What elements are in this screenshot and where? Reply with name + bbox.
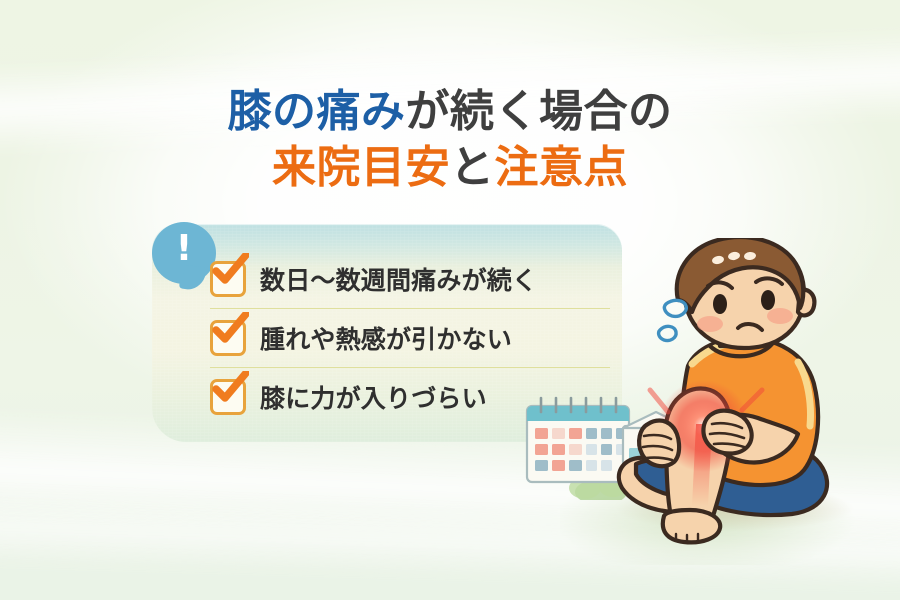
title-segment-gray-1: が続く場合の: [406, 86, 673, 137]
list-item[interactable]: 数日〜数週間痛みが続く: [210, 250, 610, 308]
checkbox-checked-icon[interactable]: [210, 379, 246, 415]
title-segment-orange-2: 注意点: [495, 142, 629, 193]
title-segment-gray-2: と: [450, 142, 495, 193]
title-segment-orange-1: 来院目安: [272, 142, 450, 193]
check-mark-icon: [211, 371, 249, 405]
list-item-label: 腫れや熱感が引かない: [260, 320, 512, 356]
list-item-label: 数日〜数週間痛みが続く: [260, 261, 537, 297]
title-segment-blue: 膝の痛み: [228, 86, 406, 137]
boy-foot: [663, 510, 720, 542]
title-line-2: 来院目安と注意点: [0, 142, 900, 194]
title-line-1: 膝の痛みが続く場合の: [0, 86, 900, 138]
list-item[interactable]: 腫れや熱感が引かない: [210, 308, 610, 367]
check-mark-icon: [211, 312, 249, 346]
boy-holding-knee-illustration: [592, 238, 892, 548]
poster-canvas: 膝の痛みが続く場合の 来院目安と注意点 ! 数日〜数週間痛みが続く: [0, 0, 900, 600]
check-mark-icon: [211, 253, 249, 287]
exclamation-icon: !: [152, 222, 216, 284]
exclamation-mark: !: [152, 231, 216, 267]
list-item-label: 膝に力が入りづらい: [260, 379, 487, 415]
page-title: 膝の痛みが続く場合の 来院目安と注意点: [0, 86, 900, 194]
checkbox-checked-icon[interactable]: [210, 320, 246, 356]
sweat-drop-icon: [659, 300, 687, 340]
